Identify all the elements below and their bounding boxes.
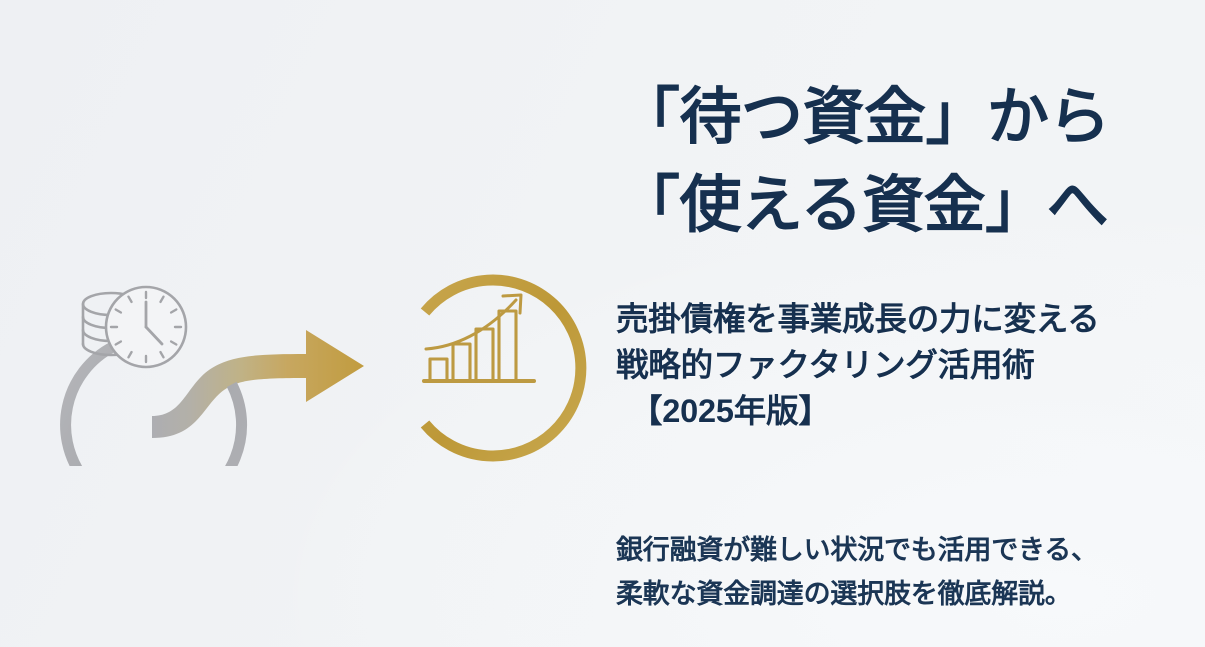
page-subtitle-line-2: 戦略的ファクタリング活用術 xyxy=(616,342,1201,388)
chart-bar-2 xyxy=(453,344,470,381)
page-description: 銀行融資が難しい状況でも活用できる、 柔軟な資金調達の選択肢を徹底解説。 xyxy=(616,529,1201,616)
eyecatch-canvas: 「待つ資金」から 「使える資金」へ 売掛債権を事業成長の力に変える 戦略的ファク… xyxy=(0,0,1205,647)
concept-illustration xyxy=(34,216,594,466)
text-block: 「待つ資金」から 「使える資金」へ 売掛債権を事業成長の力に変える 戦略的ファク… xyxy=(614,0,1205,647)
coins-and-clock-icon xyxy=(83,287,186,367)
chart-trend-curve xyxy=(426,300,516,349)
page-title: 「待つ資金」から 「使える資金」へ xyxy=(618,74,1203,250)
page-description-line-1: 銀行融資が難しい状況でも活用できる、 xyxy=(616,529,1201,573)
page-title-line-1: 「待つ資金」から xyxy=(618,74,1203,162)
chart-bar-3 xyxy=(476,329,493,381)
chart-bar-1 xyxy=(430,359,447,381)
page-title-line-2: 「使える資金」へ xyxy=(618,162,1203,250)
page-subtitle: 売掛債権を事業成長の力に変える 戦略的ファクタリング活用術 【2025年版】 xyxy=(616,296,1201,434)
page-subtitle-line-1: 売掛債権を事業成長の力に変える xyxy=(616,296,1201,342)
page-description-line-2: 柔軟な資金調達の選択肢を徹底解説。 xyxy=(616,573,1201,617)
chart-bar-4 xyxy=(499,311,516,381)
transform-arrow-icon xyxy=(152,330,364,438)
arrow-shape xyxy=(152,330,364,438)
page-subtitle-year-badge: 【2025年版】 xyxy=(616,388,1201,434)
growth-bar-chart-icon xyxy=(424,295,534,381)
